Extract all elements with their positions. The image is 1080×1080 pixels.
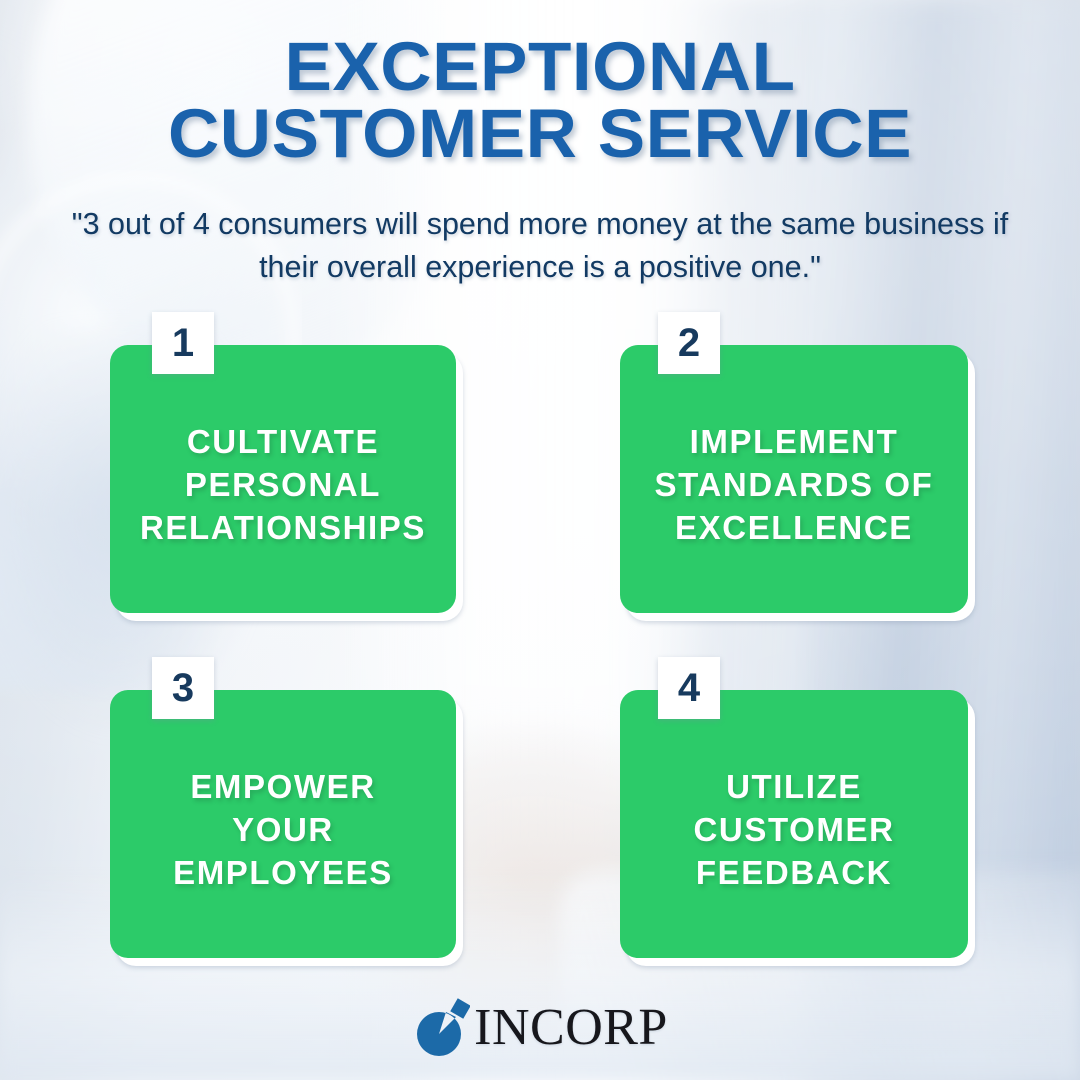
tip-card-4-number: 4 [678,668,700,708]
tip-card-2-text: IMPLEMENT STANDARDS OF EXCELLENCE [641,421,948,550]
tip-card-1-text: CULTIVATE PERSONAL RELATIONSHIPS [126,421,440,550]
tip-card-4-number-badge: 4 [658,657,720,719]
tip-card-1-line-3: RELATIONSHIPS [140,507,426,550]
tip-card-3-number: 3 [172,668,194,708]
tip-card-2-line-3: EXCELLENCE [655,507,934,550]
tip-card-1-number: 1 [172,323,194,363]
tip-card-3-line-3: EMPLOYEES [173,852,393,895]
tip-card-3-body: EMPOWER YOUR EMPLOYEES [110,690,456,958]
tip-card-3-number-badge: 3 [152,657,214,719]
tips-card-grid: CULTIVATE PERSONAL RELATIONSHIPS 1 IMPLE… [0,0,1080,1080]
infographic-poster: EXCEPTIONAL CUSTOMER SERVICE "3 out of 4… [0,0,1080,1080]
tip-card-4-text: UTILIZE CUSTOMER FEEDBACK [679,766,908,895]
tip-card-1-body: CULTIVATE PERSONAL RELATIONSHIPS [110,345,456,613]
incorp-mark-icon [412,998,470,1058]
tip-card-2-number: 2 [678,323,700,363]
tip-card-2-body: IMPLEMENT STANDARDS OF EXCELLENCE [620,345,968,613]
tip-card-3-line-2: YOUR [173,809,393,852]
tip-card-2-number-badge: 2 [658,312,720,374]
tip-card-4-line-2: CUSTOMER [693,809,894,852]
tip-card-4-line-1: UTILIZE [693,766,894,809]
tip-card-1-line-1: CULTIVATE [140,421,426,464]
tip-card-3-text: EMPOWER YOUR EMPLOYEES [159,766,407,895]
tip-card-4-body: UTILIZE CUSTOMER FEEDBACK [620,690,968,958]
tip-card-4-line-3: FEEDBACK [693,852,894,895]
tip-card-2[interactable]: IMPLEMENT STANDARDS OF EXCELLENCE 2 [620,345,968,613]
tip-card-2-line-2: STANDARDS OF [655,464,934,507]
brand-logo: INCORP [0,998,1080,1058]
tip-card-3[interactable]: EMPOWER YOUR EMPLOYEES 3 [110,690,456,958]
tip-card-1-line-2: PERSONAL [140,464,426,507]
tip-card-1-number-badge: 1 [152,312,214,374]
tip-card-2-line-1: IMPLEMENT [655,421,934,464]
tip-card-3-line-1: EMPOWER [173,766,393,809]
tip-card-1[interactable]: CULTIVATE PERSONAL RELATIONSHIPS 1 [110,345,456,613]
incorp-wordmark: INCORP [474,1002,668,1054]
tip-card-4[interactable]: UTILIZE CUSTOMER FEEDBACK 4 [620,690,968,958]
